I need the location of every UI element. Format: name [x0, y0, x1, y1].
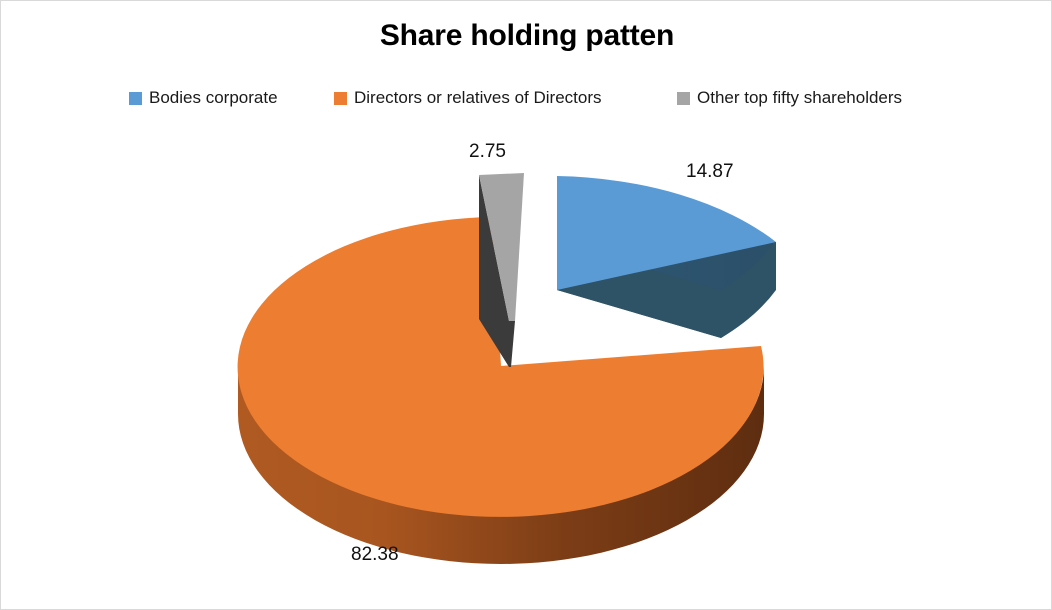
data-label-directors: 82.38 [351, 544, 399, 566]
data-label-bodies-corporate: 14.87 [686, 161, 734, 183]
data-label-other-shareholders: 2.75 [469, 141, 506, 163]
chart-canvas: Share holding patten Bodies corporate Di… [0, 0, 1052, 610]
pie-slice-bodies-corporate[interactable] [557, 176, 776, 338]
pie-slice-other-shareholders-tip [509, 321, 515, 367]
pie-chart-graphic [1, 1, 1052, 610]
